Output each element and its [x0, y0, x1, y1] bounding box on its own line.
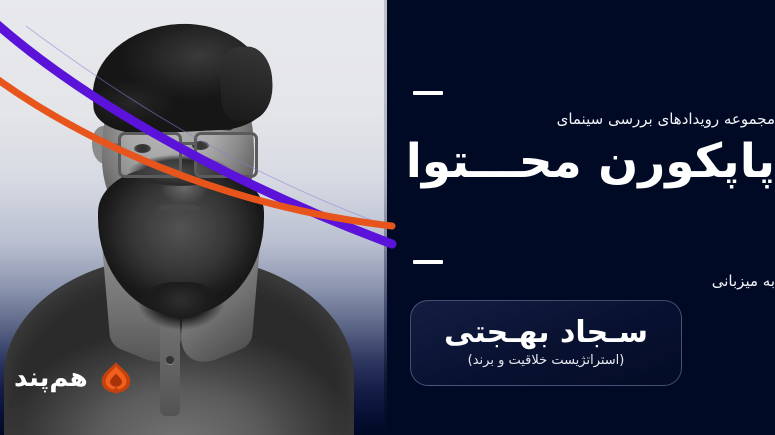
glasses-lens-right [194, 132, 258, 178]
portrait-mouth [158, 204, 200, 212]
event-poster: مجموعه رویدادهای بررسی سینمای پاپکورن مح… [0, 0, 775, 435]
event-eyebrow-text: مجموعه رویدادهای بررسی سینمای [387, 108, 775, 131]
flame-drop-logo-icon [97, 359, 135, 397]
portrait-glasses [112, 132, 260, 174]
speaker-portrait-image [40, 8, 310, 408]
portrait-hair [89, 19, 270, 136]
brand-logo[interactable]: هم‌پند [14, 359, 135, 397]
brand-wordmark: هم‌پند [14, 365, 88, 391]
glasses-lens-left [118, 132, 182, 178]
speaker-role: (استراتژیست خلاقیت و برند) [468, 353, 625, 370]
speaker-name-card: سـجاد بهـجتی (استراتژیست خلاقیت و برند) [410, 300, 682, 386]
glasses-bridge [178, 142, 196, 145]
speaker-name: سـجاد بهـجتی [444, 316, 648, 351]
hosted-by-label: به میزبانی [387, 272, 775, 290]
event-title: پاپکورن محـــتوا [387, 133, 775, 192]
poster-content: مجموعه رویدادهای بررسی سینمای پاپکورن مح… [387, 0, 775, 435]
eyebrow-divider-dash [413, 91, 443, 95]
host-divider-dash [413, 260, 443, 264]
portrait-shirt-button [166, 356, 174, 364]
